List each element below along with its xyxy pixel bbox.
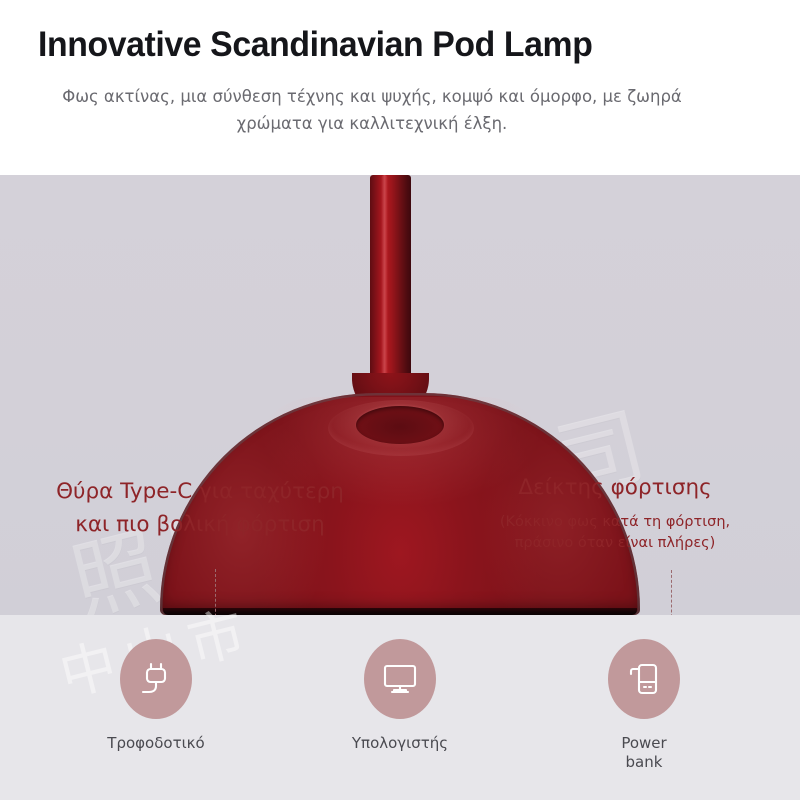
annotation-usb-c: Θύρα Type-C για ταχύτερη και πιο βολική … — [40, 475, 360, 541]
feature-icon-circle — [364, 639, 436, 719]
feature-item-power-adapter: Τροφοδοτικό — [76, 615, 236, 753]
feature-item-power-bank: Power bank — [564, 615, 724, 772]
compatibility-list: Τροφοδοτικό Υπολογιστής — [0, 615, 800, 800]
lamp-stem — [370, 175, 411, 405]
compatibility-strip: 中山市 Τροφοδοτικό — [0, 615, 800, 800]
feature-icon-circle — [608, 639, 680, 719]
header: Innovative Scandinavian Pod Lamp Φως ακτ… — [0, 0, 800, 175]
lamp-base-rim — [163, 608, 637, 615]
feature-label: Υπολογιστής — [352, 734, 448, 753]
product-stage: 照明有限公司 Θύρα Type-C για ταχύτερη και πιο … — [0, 175, 800, 615]
feature-label: Power bank — [621, 734, 666, 772]
annotation-charging-subtitle: (Κόκκινο φως κατά τη φόρτιση, πράσινο ότ… — [470, 512, 760, 554]
feature-label: Τροφοδοτικό — [107, 734, 204, 753]
annotation-charging-title: Δείκτης φόρτισης — [470, 473, 760, 503]
feature-item-computer: Υπολογιστής — [320, 615, 480, 753]
power-bank-icon — [627, 660, 661, 698]
page-subtitle: Φως ακτίνας, μια σύνθεση τέχνης και ψυχή… — [46, 83, 698, 137]
page-title: Innovative Scandinavian Pod Lamp — [38, 24, 744, 66]
lamp-collar-hole — [356, 406, 444, 444]
leader-line-left-vertical — [215, 569, 216, 615]
leader-line-right-vertical — [671, 570, 672, 615]
lamp-stem-highlight — [381, 175, 388, 403]
annotation-charging-indicator: Δείκτης φόρτισης (Κόκκινο φως κατά τη φό… — [470, 473, 760, 554]
feature-icon-circle — [120, 639, 192, 719]
monitor-icon — [381, 662, 419, 696]
power-plug-icon — [138, 660, 174, 698]
